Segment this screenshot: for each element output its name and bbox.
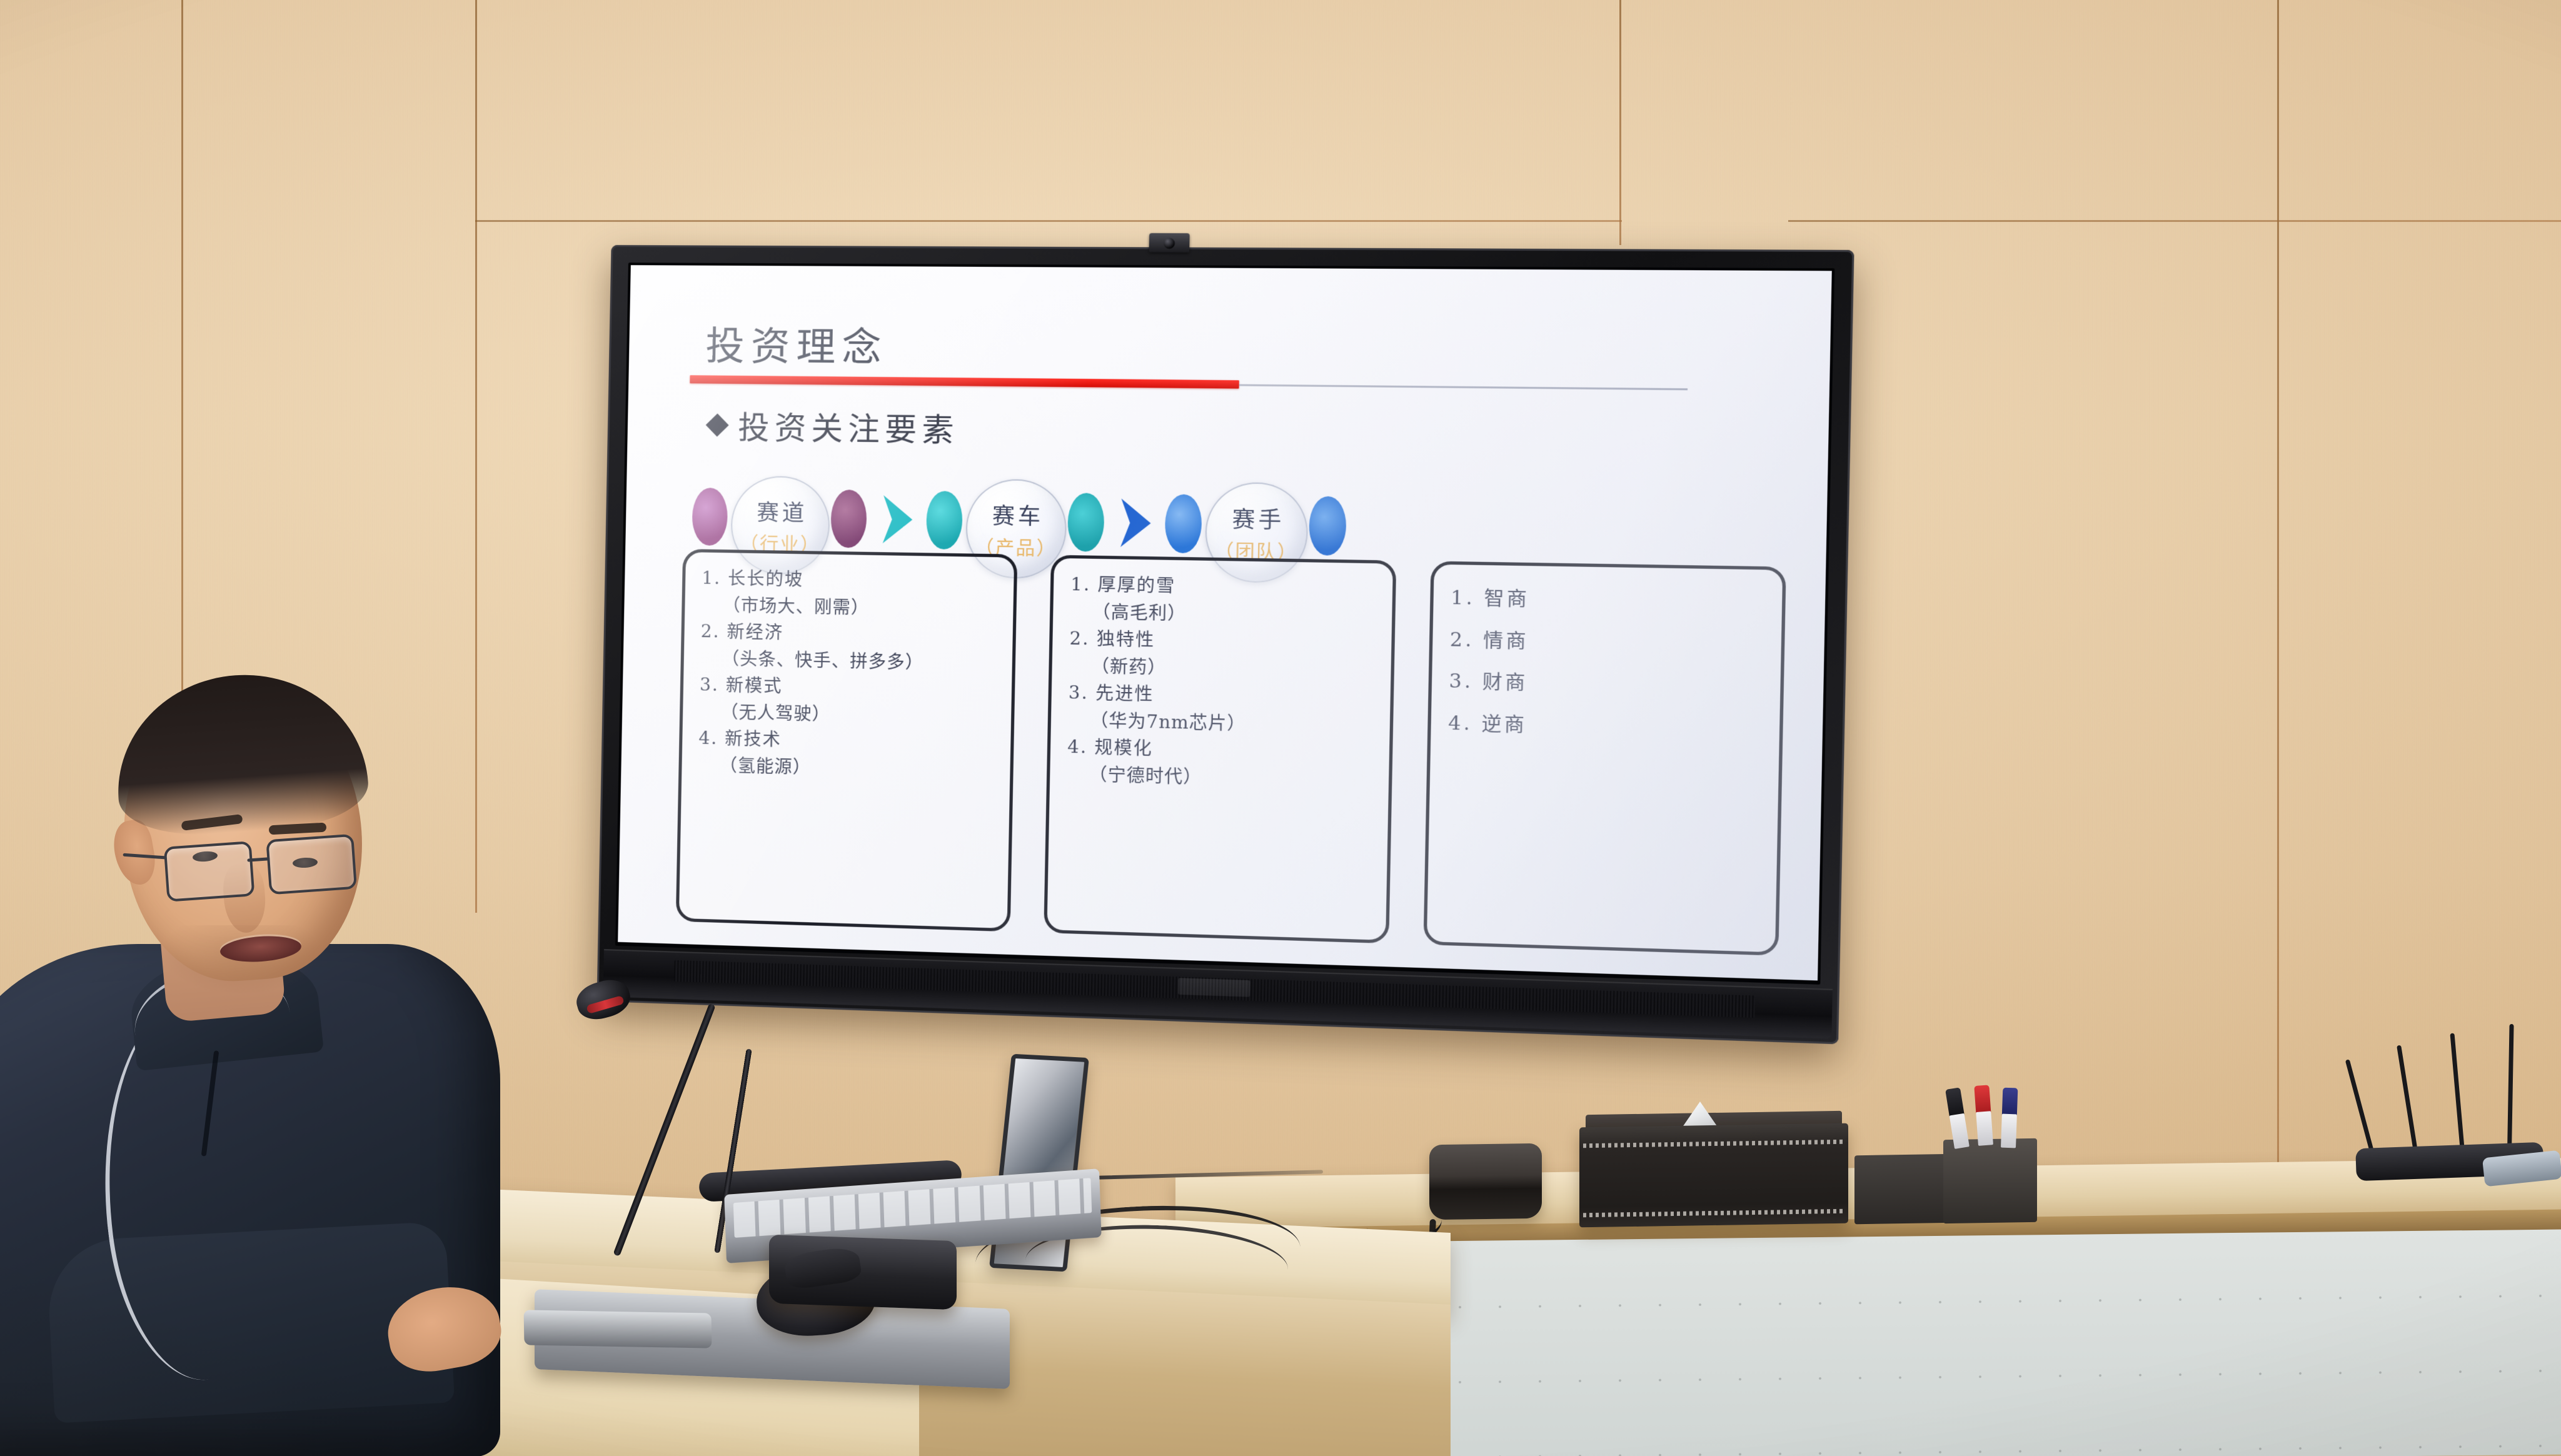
wall-seam-vertical-3 <box>2277 0 2279 1188</box>
detail-box-1: 1. 长长的坡 （市场大、刚需） 2. 新经济 （头条、快手、拼多多） 3. 新… <box>676 549 1018 931</box>
flow-node-1[interactable]: 赛道 （行业） <box>685 479 876 557</box>
tissue-box[interactable] <box>1579 1123 1848 1228</box>
conference-room-photo: 投资理念 投资关注要素 赛道 （行业） <box>0 0 2561 1456</box>
eyeglass-lens-left <box>164 841 255 902</box>
title-underline-grey <box>1239 384 1688 390</box>
marker-blue[interactable] <box>2001 1088 2018 1148</box>
flow-node-1-label: 赛道 <box>753 495 808 528</box>
list-item: 2. 情商 <box>1449 620 1764 668</box>
ellipse-decoration-right <box>1309 496 1347 556</box>
diamond-bullet-icon <box>706 414 729 437</box>
title-underline-red <box>690 375 1239 388</box>
marker-cap <box>1974 1085 1991 1115</box>
marker-body <box>2001 1114 2017 1148</box>
list-item: 4. 逆商 <box>1447 703 1762 751</box>
ellipse-decoration-right <box>1067 493 1105 552</box>
wall-seam-vertical-2 <box>1619 0 1621 245</box>
ellipse-decoration-left <box>926 491 963 550</box>
list-item: 1. 智商 <box>1450 578 1764 625</box>
slide-title: 投资理念 <box>705 314 888 373</box>
marker-body <box>1976 1112 1993 1146</box>
flow-detail-boxes: 1. 长长的坡 （市场大、刚需） 2. 新经济 （头条、快手、拼多多） 3. 新… <box>676 549 1786 956</box>
flow-node-2-label: 赛车 <box>989 498 1044 531</box>
wall-seam-horizontal-2 <box>1788 220 2561 222</box>
ellipse-decoration-left <box>692 488 728 546</box>
flow-node-3[interactable]: 赛手 （团队） <box>1158 485 1356 565</box>
slide-bullet-text: 投资关注要素 <box>738 403 960 451</box>
eyeglasses-icon <box>161 823 365 906</box>
detail-box-2: 1. 厚厚的雪 （高毛利） 2. 独特性 （新药） 3. 先进性 （华为7nm芯… <box>1044 555 1396 944</box>
detail-box-3: 1. 智商 2. 情商 3. 财商 4. 逆商 <box>1423 561 1786 955</box>
title-underline <box>690 375 1688 394</box>
wall-seam-horizontal-1 <box>475 220 1622 222</box>
slide-bullet-row: 投资关注要素 <box>708 403 959 451</box>
list-item: 3. 财商 <box>1449 661 1763 710</box>
chevron-arrow-icon-2 <box>1115 496 1157 550</box>
speakerphone-device[interactable] <box>1429 1143 1542 1220</box>
ellipse-decoration-right <box>830 490 867 548</box>
chevron-arrow-icon-1 <box>877 493 918 546</box>
ellipse-decoration-left <box>1165 494 1202 553</box>
flow-node-3-label: 赛手 <box>1229 501 1285 535</box>
presentation-slide: 投资理念 投资关注要素 赛道 （行业） <box>618 265 1832 980</box>
eyeglass-bridge <box>247 857 269 861</box>
display-brand-badge <box>1179 978 1251 997</box>
eyeglass-lens-right <box>266 834 357 895</box>
presenter-hair <box>111 666 371 840</box>
pen-holder[interactable] <box>1943 1138 2037 1223</box>
flow-node-2[interactable]: 赛车 （产品） <box>919 482 1114 561</box>
wall-mounted-display[interactable]: 投资理念 投资关注要素 赛道 （行业） <box>596 245 1854 1044</box>
presenter-person <box>0 675 600 1456</box>
marker-cap <box>2002 1088 2018 1117</box>
display-camera-icon <box>1149 233 1190 253</box>
